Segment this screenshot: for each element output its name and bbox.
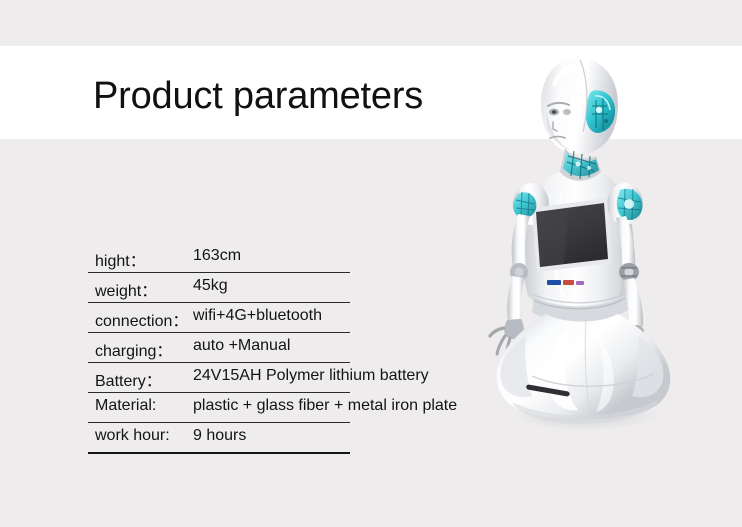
robot-illustration [468,44,742,444]
chest-screen [532,198,612,272]
spec-label: Battery： [95,367,162,391]
spec-value: plastic + glass fiber + metal iron plate [193,397,457,415]
spec-label: weight： [95,277,157,301]
table-row: work hour: 9 hours [88,423,350,454]
spec-value: 9 hours [193,427,246,445]
table-row: connection： wifi+4G+bluetooth [88,303,350,333]
table-row: weight： 45kg [88,273,350,303]
spec-label: work hour: [95,427,170,445]
table-row: charging： auto +Manual [88,333,350,363]
page-title: Product parameters [93,74,423,118]
spec-table: hight： 163cm weight： 45kg connection： wi… [88,243,350,454]
spec-value: wifi+4G+bluetooth [193,307,322,325]
product-parameters-page: Product parameters [0,0,742,527]
spec-label: hight： [95,247,146,271]
table-row: Material: plastic + glass fiber + metal … [88,393,350,423]
spec-value: 163cm [193,247,241,265]
spec-label: connection： [95,307,188,331]
spec-value: 45kg [193,277,228,295]
table-row: hight： 163cm [88,243,350,273]
spec-value: auto +Manual [193,337,290,355]
spec-label: Material: [95,397,156,415]
table-row: Battery： 24V15AH Polymer lithium battery [88,363,350,393]
right-elbow [619,263,639,281]
spec-value: 24V15AH Polymer lithium battery [193,367,429,385]
robot-head [541,58,618,154]
spec-label: charging： [95,337,172,361]
